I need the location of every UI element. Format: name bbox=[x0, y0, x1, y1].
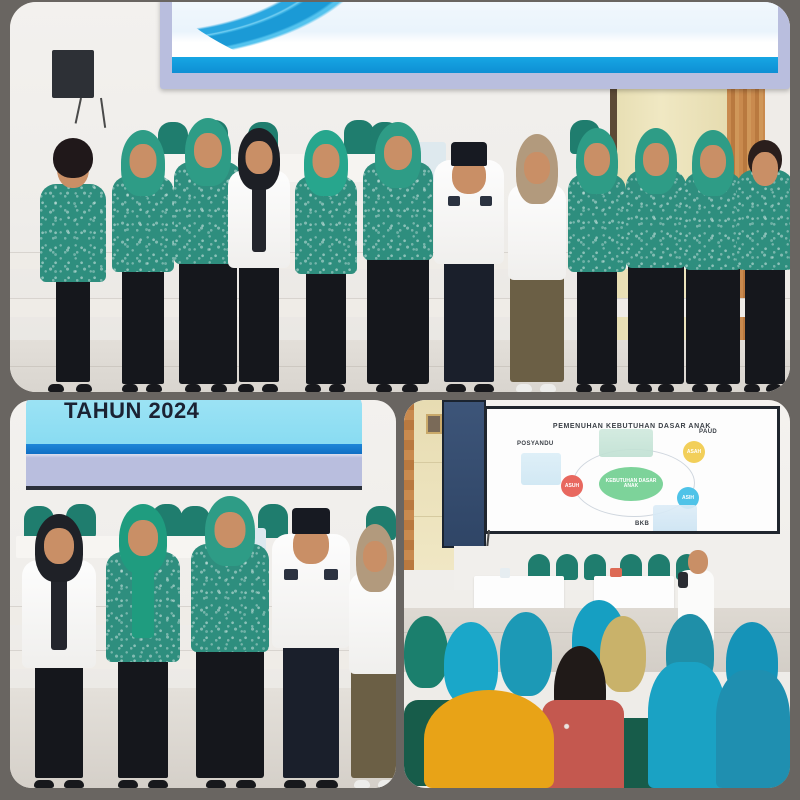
person bbox=[362, 96, 434, 392]
clipart-posyandu bbox=[521, 453, 561, 485]
microphone bbox=[678, 572, 688, 588]
audience-member bbox=[404, 616, 448, 688]
face bbox=[688, 550, 708, 574]
slide-accent-band bbox=[26, 444, 362, 454]
uniform-patch bbox=[324, 569, 338, 580]
uniform-patch bbox=[284, 569, 298, 580]
person bbox=[348, 502, 396, 788]
diagram-node-asuh: ASUH bbox=[561, 475, 583, 497]
audience-member-yellow-hijab bbox=[424, 690, 554, 788]
person bbox=[736, 100, 790, 392]
audience-member bbox=[648, 662, 726, 788]
slide-line-2: TAHUN 2024 bbox=[172, 2, 778, 6]
person bbox=[190, 486, 270, 788]
audience-member bbox=[716, 670, 790, 788]
projector-screen-top: ……… PEMBINAAN (BKB) TINGKAT KAB. KOLAKA … bbox=[160, 2, 790, 89]
person-official bbox=[432, 92, 506, 392]
wall-speaker bbox=[52, 50, 94, 98]
person bbox=[226, 102, 292, 392]
person bbox=[624, 100, 688, 392]
person bbox=[566, 102, 628, 392]
person bbox=[293, 104, 359, 392]
framed-picture bbox=[426, 414, 442, 434]
wood-column bbox=[404, 400, 414, 570]
audience-member bbox=[500, 612, 552, 696]
wall-blue-panel bbox=[442, 400, 486, 548]
diagram-label-paud: PAUD bbox=[699, 429, 717, 435]
person bbox=[682, 104, 744, 392]
uniform-patch bbox=[448, 196, 460, 206]
panel-top-group-photo: ……… PEMBINAAN (BKB) TINGKAT KAB. KOLAKA … bbox=[10, 2, 790, 392]
head-table bbox=[474, 576, 564, 610]
person bbox=[506, 112, 568, 392]
peci-cap bbox=[451, 142, 487, 166]
slide-text-block: ……… PEMBINAAN (BKB) TINGKAT KAB. KOLAKA … bbox=[172, 2, 778, 6]
person-official bbox=[270, 480, 352, 788]
uniform-patch bbox=[480, 196, 492, 206]
glass bbox=[500, 568, 510, 578]
person bbox=[110, 100, 176, 392]
slide-surface: PEMENUHAN KEBUTUHAN DASAR ANAK KEBUTUHAN… bbox=[487, 409, 777, 531]
person bbox=[104, 488, 182, 788]
panel-bottom-right-seminar: PEMENUHAN KEBUTUHAN DASAR ANAK KEBUTUHAN… bbox=[404, 400, 790, 788]
audience-member bbox=[600, 616, 646, 692]
snack-box bbox=[610, 568, 622, 577]
person bbox=[20, 496, 98, 788]
clipart-paud bbox=[599, 429, 653, 457]
person bbox=[38, 107, 108, 392]
panel-bottom-left-officials: TAHUN 2024 bbox=[10, 400, 396, 788]
projector-screen-bottom-right: PEMENUHAN KEBUTUHAN DASAR ANAK KEBUTUHAN… bbox=[484, 406, 780, 534]
slide-surface: ……… PEMBINAAN (BKB) TINGKAT KAB. KOLAKA … bbox=[172, 2, 778, 73]
diagram-center-node: KEBUTUHAN DASAR ANAK bbox=[599, 467, 663, 501]
slide-title: TAHUN 2024 bbox=[64, 400, 199, 424]
photo-collage: ……… PEMBINAAN (BKB) TINGKAT KAB. KOLAKA … bbox=[0, 0, 800, 800]
diagram-node-asah: ASAH bbox=[683, 441, 705, 463]
audience-member-batik bbox=[542, 700, 624, 788]
peci-cap bbox=[292, 508, 330, 534]
neck-scarf bbox=[252, 180, 266, 252]
projector-screen-bottom-left: TAHUN 2024 bbox=[26, 400, 362, 486]
slide-accent-bar bbox=[172, 57, 778, 73]
diagram-label-bkb: BKB bbox=[635, 521, 649, 527]
diagram-label-posyandu: POSYANDU bbox=[517, 441, 554, 447]
